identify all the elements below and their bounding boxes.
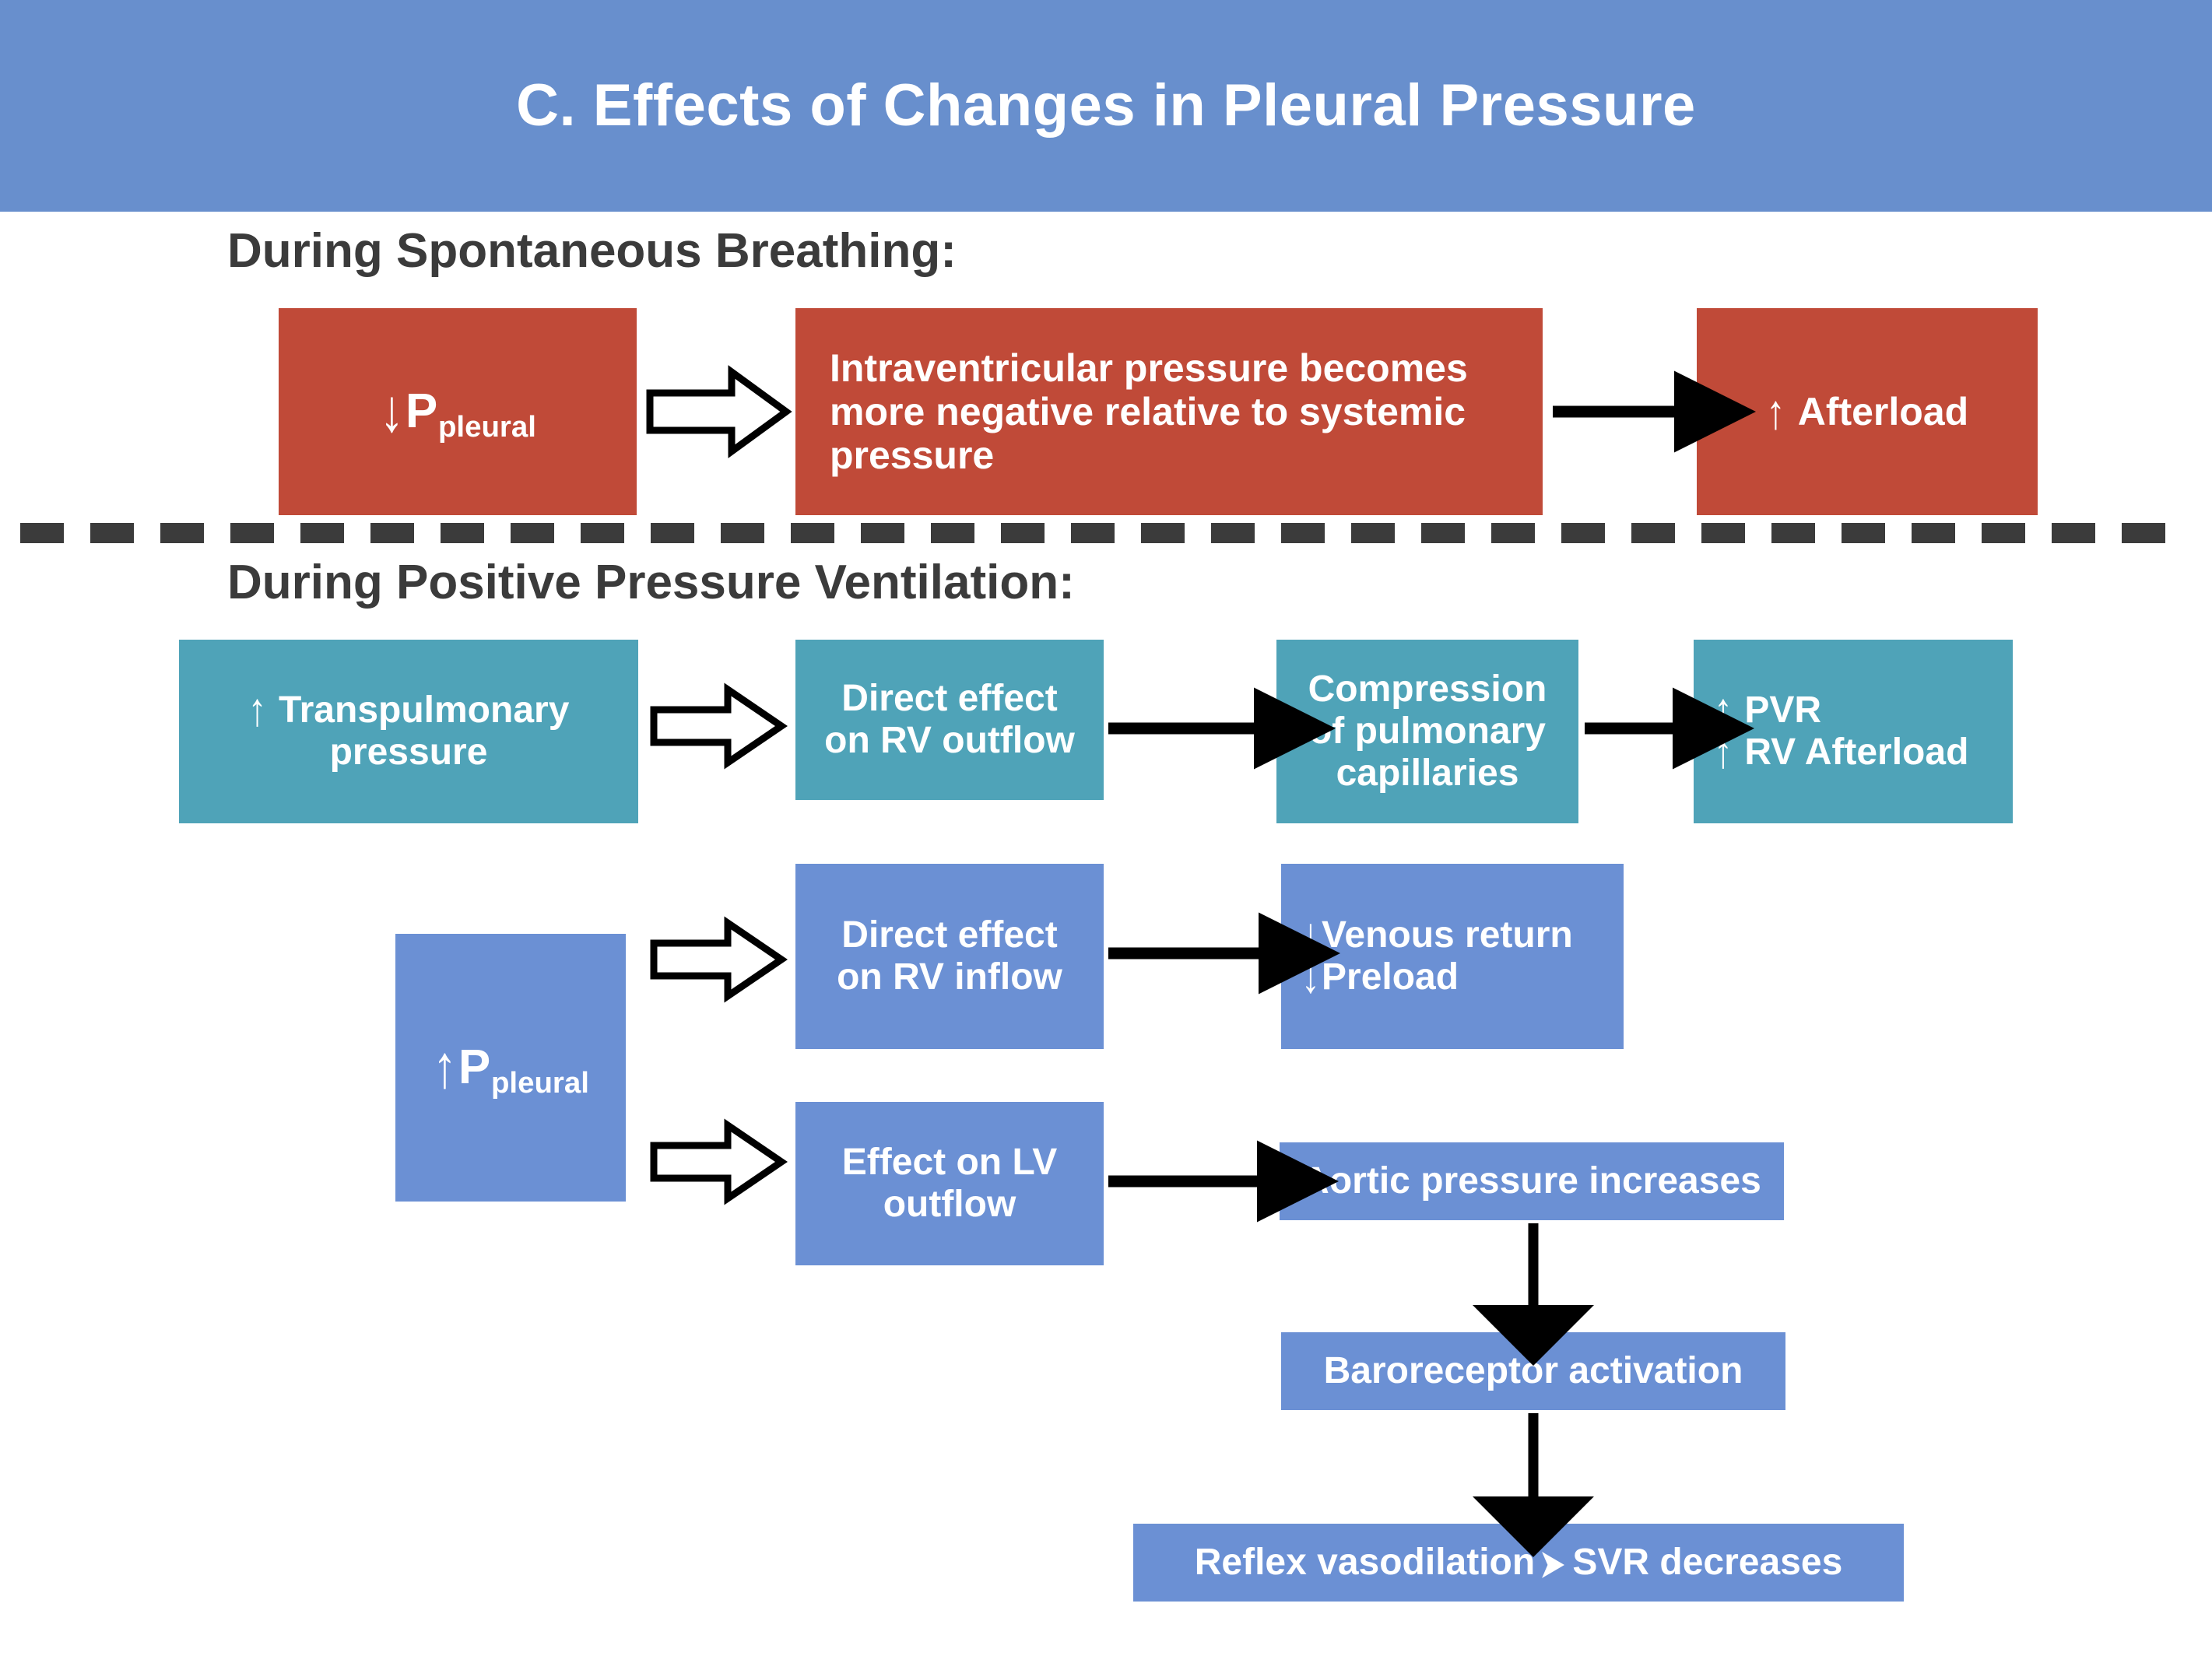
divider-dash [1631, 523, 1675, 543]
divider-dash [1561, 523, 1605, 543]
hollow-arrow-ppleural-to-intraventricular [650, 372, 786, 451]
hollow-arrow-transpulmonary-to-rv-outflow [654, 689, 781, 763]
divider-dash [1211, 523, 1255, 543]
dashed-divider [20, 523, 2200, 543]
divider-dash [370, 523, 414, 543]
node-decreased-pleural-pressure: ↓Ppleural [279, 308, 637, 515]
node-text-line3: capillaries [1287, 753, 1568, 795]
divider-dash [2122, 523, 2165, 543]
divider-dash [1912, 523, 1955, 543]
divider-dash [1281, 523, 1325, 543]
node-increased-afterload: ↑ Afterload [1697, 308, 2038, 515]
section-heading-positive-pressure-ventilation: During Positive Pressure Ventilation: [227, 559, 1075, 607]
divider-dash [511, 523, 554, 543]
divider-dash [1141, 523, 1185, 543]
node-intraventricular-pressure: Intraventricular pressure becomes more n… [795, 308, 1543, 515]
node-text-line1: Direct effect [806, 914, 1093, 956]
divider-dash [1071, 523, 1115, 543]
divider-dash [931, 523, 974, 543]
node-effect-lv-outflow: Effect on LV outflow [795, 1102, 1104, 1265]
divider-dash [300, 523, 344, 543]
hollow-arrow-ppleural-to-lv-outflow [654, 1125, 781, 1198]
divider-dash [861, 523, 904, 543]
down-arrow-icon: ↓ [380, 378, 404, 446]
node-text-line2: RV Afterload [1744, 731, 1968, 773]
divider-dash [1421, 523, 1465, 543]
up-arrow-icon: ↑ [433, 1034, 457, 1102]
node-text-line1: Venous return [1322, 914, 1573, 956]
header-bar: C. Effects of Changes in Pleural Pressur… [0, 0, 2212, 212]
divider-dash [1771, 523, 1815, 543]
node-direct-effect-rv-outflow: Direct effect on RV outflow [795, 640, 1104, 800]
node-text-line1: Compression [1287, 668, 1568, 710]
down-arrow-icon: ↓ [1301, 951, 1320, 1003]
divider-dash [160, 523, 204, 543]
divider-dash [20, 523, 64, 543]
divider-dash [651, 523, 694, 543]
pressure-subscript: pleural [438, 410, 536, 444]
node-compression-pulmonary-capillaries: Compression of pulmonary capillaries [1276, 640, 1578, 823]
node-text-line2: pressure [190, 731, 627, 774]
pressure-symbol: P [406, 384, 437, 438]
node-increased-transpulmonary-pressure: ↑ Transpulmonary pressure [179, 640, 638, 823]
node-baroreceptor-activation: Baroreceptor activation [1281, 1332, 1785, 1410]
node-text: Baroreceptor activation [1292, 1350, 1775, 1392]
hollow-arrow-ppleural-to-rv-inflow [654, 923, 781, 996]
divider-dash [1982, 523, 2025, 543]
node-text-line1: Effect on LV [806, 1142, 1093, 1184]
node-reflex-vasodilation-svr-decreases: Reflex vasodilation➤SVR decreases [1133, 1524, 1904, 1602]
divider-dash [1491, 523, 1535, 543]
node-text-line2: on RV inflow [806, 956, 1093, 998]
node-increased-pleural-pressure: ↑Ppleural [395, 934, 626, 1202]
node-text-left: Reflex vasodilation [1195, 1542, 1535, 1583]
divider-dash [230, 523, 274, 543]
divider-dash [441, 523, 484, 543]
node-decreased-venous-return-preload: ↓Venous return ↓Preload [1281, 864, 1624, 1049]
pressure-symbol: P [458, 1040, 490, 1094]
up-arrow-icon: ↑ [248, 685, 267, 737]
node-text-line1: Direct effect [806, 678, 1093, 720]
section-heading-spontaneous-breathing: During Spontaneous Breathing: [227, 227, 957, 275]
up-arrow-icon: ↑ [1714, 726, 1733, 778]
node-text: Intraventricular pressure becomes more n… [830, 346, 1519, 477]
divider-dash [1001, 523, 1045, 543]
up-arrow-icon: ↑ [1766, 384, 1785, 439]
divider-dash [1701, 523, 1745, 543]
node-text-line2: Preload [1322, 956, 1459, 998]
divider-dash [581, 523, 624, 543]
node-text-line2: on RV outflow [806, 720, 1093, 762]
node-text: Afterload [1798, 390, 1968, 433]
pressure-subscript: pleural [491, 1066, 589, 1100]
divider-dash [2052, 523, 2095, 543]
page-title: C. Effects of Changes in Pleural Pressur… [516, 76, 1696, 135]
node-text: Aortic pressure increases [1290, 1160, 1773, 1202]
node-increased-pvr-rv-afterload: ↑ PVR ↑ RV Afterload [1694, 640, 2013, 823]
divider-dash [721, 523, 764, 543]
divider-dash [791, 523, 834, 543]
right-arrow-icon: ➤ [1540, 1544, 1564, 1586]
divider-dash [1351, 523, 1395, 543]
node-text-line1: Transpulmonary [279, 689, 569, 731]
divider-dash [1842, 523, 1885, 543]
node-text-line2: of pulmonary [1287, 710, 1568, 753]
divider-dash [90, 523, 134, 543]
node-text-line2: outflow [806, 1184, 1093, 1226]
node-direct-effect-rv-inflow: Direct effect on RV inflow [795, 864, 1104, 1049]
node-text-line1: PVR [1744, 689, 1821, 731]
node-text-right: SVR decreases [1572, 1542, 1842, 1583]
node-aortic-pressure-increases: Aortic pressure increases [1280, 1142, 1784, 1220]
